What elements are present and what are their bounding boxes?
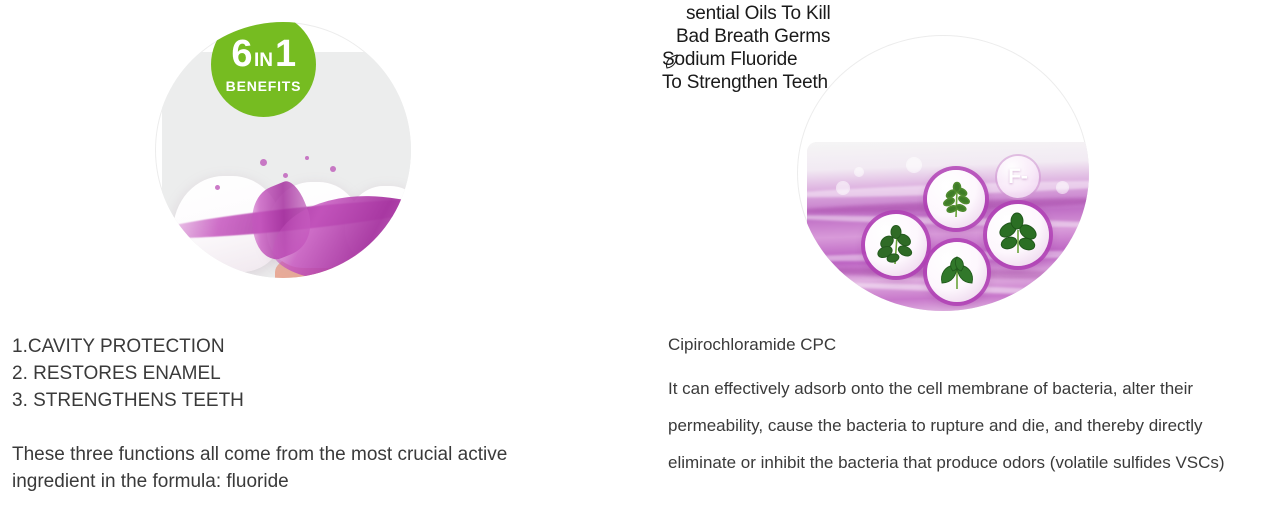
right-text-block: Cipirochloramide CPC It can effectively … bbox=[668, 334, 1263, 481]
herb-bubble-mint bbox=[927, 242, 987, 302]
infographic-page: 6 IN 1 BENEFITS 1.CAVITY PROTECTION 2. R… bbox=[0, 0, 1265, 520]
teeth-illustration bbox=[155, 138, 411, 278]
left-product-image: 6 IN 1 BENEFITS bbox=[155, 22, 411, 278]
heading-line: Bad Breath Germs bbox=[676, 25, 952, 48]
small-bubble bbox=[1057, 182, 1068, 193]
small-bubble bbox=[1071, 238, 1079, 246]
left-image-inner: 6 IN 1 BENEFITS bbox=[155, 22, 411, 278]
herb-bubble-thyme bbox=[927, 170, 985, 228]
badge-number-six: 6 bbox=[231, 35, 252, 73]
eucalyptus-leaf-icon bbox=[871, 220, 921, 270]
badge-headline: 6 IN 1 bbox=[231, 35, 295, 73]
thyme-sprig-icon bbox=[933, 176, 979, 222]
splash-droplet bbox=[283, 173, 288, 178]
badge-joiner-in: IN bbox=[254, 51, 273, 70]
small-bubble bbox=[855, 168, 863, 176]
badge-caption: BENEFITS bbox=[226, 78, 302, 94]
left-summary-paragraph: These three functions all come from the … bbox=[12, 441, 587, 495]
herb-bubble-eucalyptus bbox=[865, 214, 927, 276]
badge-number-one: 1 bbox=[275, 35, 296, 73]
small-bubble bbox=[907, 158, 921, 172]
right-title: Cipirochloramide CPC bbox=[668, 334, 1263, 356]
benefit-item: 1.CAVITY PROTECTION bbox=[12, 333, 612, 360]
basil-leaf-icon bbox=[993, 210, 1043, 260]
left-column: 6 IN 1 BENEFITS 1.CAVITY PROTECTION 2. R… bbox=[0, 0, 650, 520]
heading-line: To Strengthen Teeth bbox=[662, 71, 952, 94]
fluoride-bubble: F- bbox=[997, 156, 1039, 198]
herb-bubble-basil bbox=[987, 204, 1049, 266]
right-column: F- F- sential Oils To Kill Bad Breath Ge… bbox=[650, 0, 1265, 520]
heading-line: Sodium Fluoride bbox=[662, 48, 952, 71]
small-bubble bbox=[1053, 292, 1062, 301]
splash-droplet bbox=[260, 159, 267, 166]
fluoride-bubble: F- bbox=[829, 284, 865, 311]
right-image-heading: sential Oils To Kill Bad Breath Germs So… bbox=[662, 2, 952, 94]
small-bubble bbox=[897, 308, 909, 311]
left-text-block: 1.CAVITY PROTECTION 2. RESTORES ENAMEL 3… bbox=[12, 333, 612, 495]
splash-droplet bbox=[305, 156, 309, 160]
benefit-item: 3. STRENGTHENS TEETH bbox=[12, 387, 612, 414]
right-body-paragraph: It can effectively adsorb onto the cell … bbox=[668, 370, 1260, 481]
benefit-item: 2. RESTORES ENAMEL bbox=[12, 360, 612, 387]
heading-line: sential Oils To Kill bbox=[686, 2, 952, 25]
mouthwash-liquid: F- F- bbox=[807, 142, 1089, 311]
splash-droplet bbox=[215, 185, 220, 190]
mint-leaf-icon bbox=[932, 247, 982, 297]
leaf-icon bbox=[664, 54, 678, 70]
small-bubble bbox=[837, 182, 849, 194]
splash-droplet bbox=[330, 166, 336, 172]
